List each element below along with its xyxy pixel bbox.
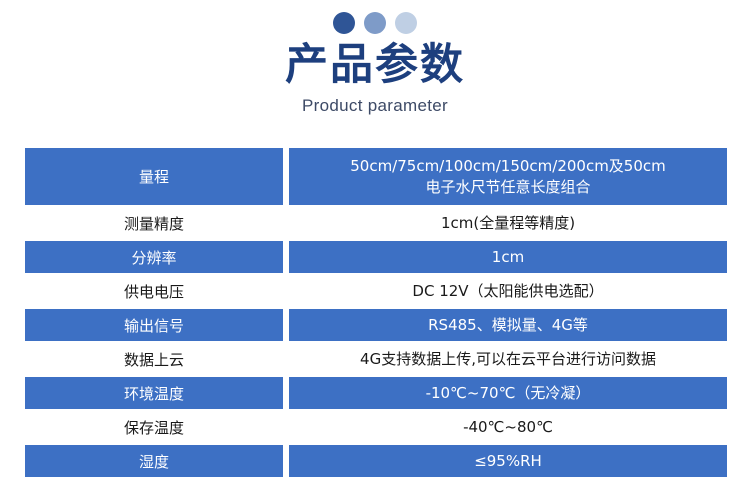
dot-mid-icon (364, 12, 386, 34)
table-cell-value: -40℃~80℃ (289, 411, 727, 443)
table-row: 数据上云4G支持数据上传,可以在云平台进行访问数据 (25, 343, 727, 375)
table-cell-label: 供电电压 (25, 275, 283, 307)
table-cell-value: ≤95%RH (289, 445, 727, 477)
table-row: 保存温度-40℃~80℃ (25, 411, 727, 443)
table-row: 量程50cm/75cm/100cm/150cm/200cm及50cm电子水尺节任… (25, 148, 727, 205)
table-cell-value: RS485、模拟量、4G等 (289, 309, 727, 341)
value-line-1: RS485、模拟量、4G等 (428, 315, 588, 335)
table-cell-value: 1cm(全量程等精度) (289, 207, 727, 239)
page-subtitle: Product parameter (0, 95, 750, 117)
dot-light-icon (395, 12, 417, 34)
table-cell-value: 1cm (289, 241, 727, 273)
value-line-1: 50cm/75cm/100cm/150cm/200cm及50cm (350, 156, 666, 176)
table-row: 分辨率1cm (25, 241, 727, 273)
value-lines: ≤95%RH (474, 451, 542, 471)
table-cell-label: 分辨率 (25, 241, 283, 273)
product-parameter-page: 产品参数 Product parameter 量程50cm/75cm/100cm… (0, 0, 750, 487)
table-cell-label: 湿度 (25, 445, 283, 477)
table-cell-label: 保存温度 (25, 411, 283, 443)
dot-dark-icon (333, 12, 355, 34)
value-line-1: 1cm (492, 247, 524, 267)
page-title: 产品参数 (0, 40, 750, 90)
value-line-1: ≤95%RH (474, 451, 542, 471)
table-cell-value: -10℃~70℃（无冷凝） (289, 377, 727, 409)
value-line-2: 电子水尺节任意长度组合 (350, 177, 666, 197)
table-cell-value: DC 12V（太阳能供电选配） (289, 275, 727, 307)
table-row: 湿度≤95%RH (25, 445, 727, 477)
table-cell-label: 测量精度 (25, 207, 283, 239)
table-row: 供电电压DC 12V（太阳能供电选配） (25, 275, 727, 307)
table-row: 环境温度-10℃~70℃（无冷凝） (25, 377, 727, 409)
value-lines: 1cm (492, 247, 524, 267)
value-lines: -40℃~80℃ (463, 417, 553, 437)
table-cell-label: 数据上云 (25, 343, 283, 375)
value-line-1: 1cm(全量程等精度) (441, 213, 575, 233)
value-line-1: -40℃~80℃ (463, 417, 553, 437)
table-row: 输出信号RS485、模拟量、4G等 (25, 309, 727, 341)
value-lines: 50cm/75cm/100cm/150cm/200cm及50cm电子水尺节任意长… (350, 156, 666, 197)
value-lines: DC 12V（太阳能供电选配） (412, 281, 603, 301)
value-lines: -10℃~70℃（无冷凝） (426, 383, 591, 403)
value-line-1: DC 12V（太阳能供电选配） (412, 281, 603, 301)
specification-table: 量程50cm/75cm/100cm/150cm/200cm及50cm电子水尺节任… (25, 148, 727, 479)
value-lines: RS485、模拟量、4G等 (428, 315, 588, 335)
table-cell-value: 4G支持数据上传,可以在云平台进行访问数据 (289, 343, 727, 375)
page-header: 产品参数 Product parameter (0, 0, 750, 117)
table-row: 测量精度1cm(全量程等精度) (25, 207, 727, 239)
table-cell-label: 环境温度 (25, 377, 283, 409)
decorative-dots (0, 0, 750, 34)
table-cell-label: 量程 (25, 148, 283, 205)
table-cell-value: 50cm/75cm/100cm/150cm/200cm及50cm电子水尺节任意长… (289, 148, 727, 205)
value-line-1: -10℃~70℃（无冷凝） (426, 383, 591, 403)
value-lines: 4G支持数据上传,可以在云平台进行访问数据 (360, 349, 656, 369)
table-cell-label: 输出信号 (25, 309, 283, 341)
value-lines: 1cm(全量程等精度) (441, 213, 575, 233)
value-line-1: 4G支持数据上传,可以在云平台进行访问数据 (360, 349, 656, 369)
